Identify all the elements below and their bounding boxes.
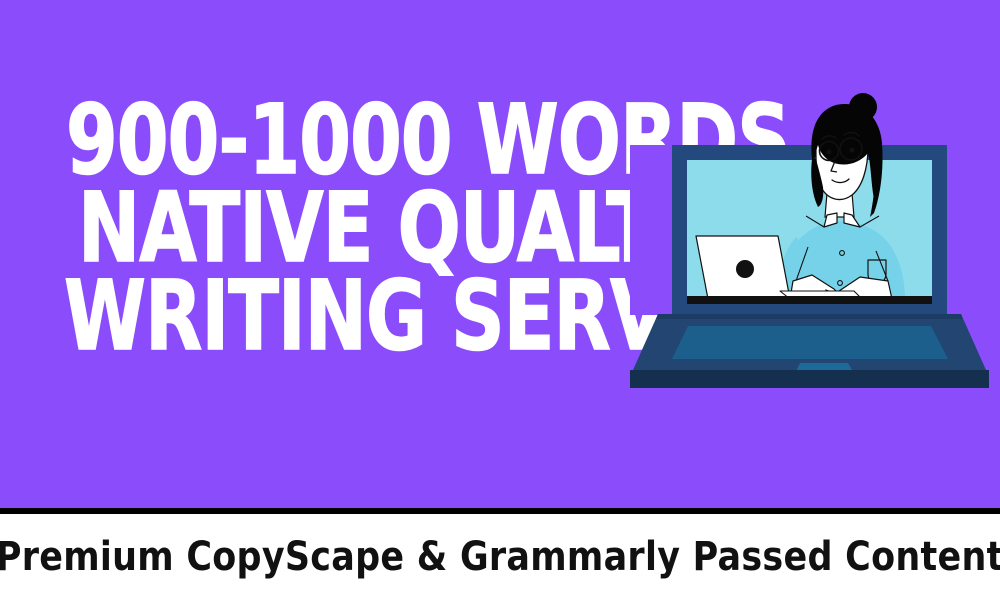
laptop-illustration (630, 85, 1000, 390)
lid-outer-right (947, 145, 1000, 315)
headline-line-3: WRITING SERVICE (64, 272, 570, 360)
footer-bar: | Premium CopyScape & Grammarly Passed C… (0, 514, 1000, 600)
small-laptop-logo (736, 260, 754, 278)
laptop-base-hinge (656, 314, 963, 319)
promo-banner: 900-1000 WORDS NATIVE QUALTIY WRITING SE… (0, 0, 1000, 600)
page-title: 900-1000 WORDS NATIVE QUALTIY WRITING SE… (52, 96, 652, 360)
laptop-base-front (630, 370, 989, 388)
glasses-bridge (839, 150, 841, 151)
right-eye (849, 147, 854, 152)
left-eye (827, 150, 832, 155)
lid-outer-left (630, 145, 672, 315)
headline-line-1: 900-1000 WORDS (66, 96, 570, 184)
desk-line (682, 296, 937, 304)
headline-line-2: NATIVE QUALTIY (78, 184, 572, 272)
screen-mask-bottom (672, 304, 947, 314)
footer-text: | Premium CopyScape & Grammarly Passed C… (0, 535, 1000, 579)
laptop-keyboard-panel (672, 326, 948, 359)
